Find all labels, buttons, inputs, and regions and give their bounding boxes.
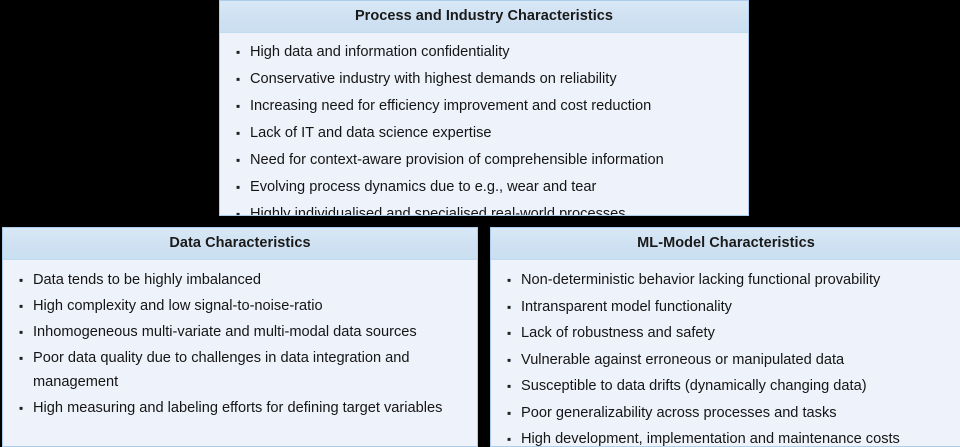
- list-item-label: High development, implementation and mai…: [521, 427, 951, 447]
- list-item-label: Vulnerable against erroneous or manipula…: [521, 348, 951, 373]
- list-item: ▪ High development, implementation and m…: [501, 427, 951, 447]
- list-item-label: Data tends to be highly imbalanced: [33, 268, 467, 292]
- card-header: Data Characteristics: [3, 228, 477, 260]
- card-header: ML-Model Characteristics: [491, 228, 960, 260]
- bullet-list: ▪ Data tends to be highly imbalanced ▪ H…: [13, 268, 467, 420]
- list-item-label: Need for context-aware provision of comp…: [250, 148, 738, 173]
- square-bullet-icon: ▪: [230, 121, 250, 146]
- square-bullet-icon: ▪: [230, 67, 250, 92]
- bullet-list: ▪ High data and information confidential…: [230, 40, 738, 216]
- list-item: ▪ Non-deterministic behavior lacking fun…: [501, 268, 951, 293]
- list-item-label: Increasing need for efficiency improveme…: [250, 94, 738, 119]
- list-item-label: Susceptible to data drifts (dynamically …: [521, 374, 951, 399]
- list-item: ▪ Lack of IT and data science expertise: [230, 121, 738, 146]
- card-ml-model-characteristics: ML-Model Characteristics ▪ Non-determini…: [490, 227, 960, 447]
- list-item: ▪ High measuring and labeling efforts fo…: [13, 396, 467, 420]
- card-title: Process and Industry Characteristics: [355, 9, 613, 24]
- square-bullet-icon: ▪: [501, 348, 521, 373]
- square-bullet-icon: ▪: [230, 94, 250, 119]
- card-title: Data Characteristics: [169, 236, 310, 251]
- square-bullet-icon: ▪: [13, 268, 33, 292]
- square-bullet-icon: ▪: [13, 320, 33, 344]
- list-item: ▪ Susceptible to data drifts (dynamicall…: [501, 374, 951, 399]
- list-item: ▪ Highly individualised and specialised …: [230, 202, 738, 216]
- card-header: Process and Industry Characteristics: [220, 1, 748, 33]
- square-bullet-icon: ▪: [501, 374, 521, 399]
- square-bullet-icon: ▪: [501, 321, 521, 346]
- list-item: ▪ Conservative industry with highest dem…: [230, 67, 738, 92]
- list-item: ▪ High complexity and low signal-to-nois…: [13, 294, 467, 318]
- square-bullet-icon: ▪: [13, 346, 33, 370]
- list-item: ▪ Increasing need for efficiency improve…: [230, 94, 738, 119]
- card-body: ▪ Data tends to be highly imbalanced ▪ H…: [3, 260, 477, 428]
- list-item: ▪ High data and information confidential…: [230, 40, 738, 65]
- list-item: ▪ Intransparent model functionality: [501, 295, 951, 320]
- list-item-label: Lack of IT and data science expertise: [250, 121, 738, 146]
- list-item-label: Lack of robustness and safety: [521, 321, 951, 346]
- list-item-label: Conservative industry with highest deman…: [250, 67, 738, 92]
- list-item: ▪ Data tends to be highly imbalanced: [13, 268, 467, 292]
- list-item-label: Non-deterministic behavior lacking funct…: [521, 268, 951, 293]
- list-item: ▪ Poor data quality due to challenges in…: [13, 346, 467, 394]
- list-item-label: Highly individualised and specialised re…: [250, 202, 738, 216]
- diagram-canvas: Process and Industry Characteristics ▪ H…: [0, 0, 960, 447]
- list-item: ▪ Lack of robustness and safety: [501, 321, 951, 346]
- list-item-label: Evolving process dynamics due to e.g., w…: [250, 175, 738, 200]
- square-bullet-icon: ▪: [13, 294, 33, 318]
- list-item-label: High data and information confidentialit…: [250, 40, 738, 65]
- card-data-characteristics: Data Characteristics ▪ Data tends to be …: [2, 227, 478, 447]
- square-bullet-icon: ▪: [501, 401, 521, 426]
- list-item: ▪ Vulnerable against erroneous or manipu…: [501, 348, 951, 373]
- bullet-list: ▪ Non-deterministic behavior lacking fun…: [501, 268, 951, 447]
- square-bullet-icon: ▪: [501, 427, 521, 447]
- list-item-label: Inhomogeneous multi-variate and multi-mo…: [33, 320, 467, 344]
- square-bullet-icon: ▪: [230, 175, 250, 200]
- list-item-label: Poor generalizability across processes a…: [521, 401, 951, 426]
- list-item: ▪ Poor generalizability across processes…: [501, 401, 951, 426]
- square-bullet-icon: ▪: [230, 202, 250, 216]
- list-item-label: High complexity and low signal-to-noise-…: [33, 294, 467, 318]
- list-item: ▪ Evolving process dynamics due to e.g.,…: [230, 175, 738, 200]
- list-item-label: Poor data quality due to challenges in d…: [33, 346, 467, 394]
- card-body: ▪ Non-deterministic behavior lacking fun…: [491, 260, 960, 447]
- square-bullet-icon: ▪: [501, 268, 521, 293]
- square-bullet-icon: ▪: [501, 295, 521, 320]
- list-item: ▪ Inhomogeneous multi-variate and multi-…: [13, 320, 467, 344]
- list-item-label: Intransparent model functionality: [521, 295, 951, 320]
- card-process-and-industry-characteristics: Process and Industry Characteristics ▪ H…: [219, 0, 749, 216]
- card-body: ▪ High data and information confidential…: [220, 33, 748, 216]
- card-title: ML-Model Characteristics: [637, 236, 815, 251]
- list-item: ▪ Need for context-aware provision of co…: [230, 148, 738, 173]
- square-bullet-icon: ▪: [230, 40, 250, 65]
- list-item-label: High measuring and labeling efforts for …: [33, 396, 467, 420]
- square-bullet-icon: ▪: [230, 148, 250, 173]
- square-bullet-icon: ▪: [13, 396, 33, 420]
